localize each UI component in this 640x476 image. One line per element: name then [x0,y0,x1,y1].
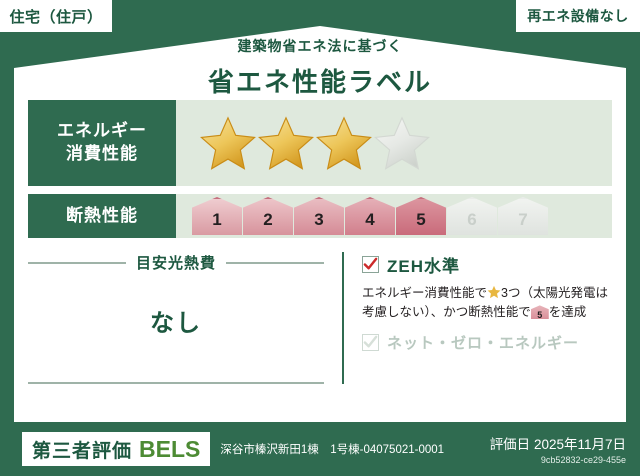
check-icon-disabled [363,335,378,350]
bels-logo-jp: 第三者評価 [32,436,132,463]
star-icon-inline [487,285,501,299]
insulation-performance-label-box: 断熱性能 [28,194,176,238]
inline-house-number: 5 [537,310,542,320]
net-zero-energy-checkbox[interactable] [362,334,379,351]
insulation-house-number: 7 [518,210,527,235]
energy-performance-row: エネルギー 消費性能 [28,100,612,186]
insulation-house-1: 1 [192,197,242,235]
insulation-house-2: 2 [243,197,293,235]
label-footer: 第三者評価 BELS 深谷市榛沢新田1棟 1号棟-04075021-0001 評… [0,422,640,476]
energy-performance-label: 住宅（住戸） 再エネ設備なし 建築物省エネ法に基づく 省エネ性能ラベル エネルギ… [0,0,640,476]
utility-cost-heading-text: 目安光熱費 [126,252,226,273]
net-zero-energy-line: ネット・ゼロ・エネルギー [362,332,612,353]
insulation-house-7: 7 [498,197,548,235]
star-icon-filled [200,115,256,171]
badge-building-type: 住宅（住戸） [0,0,112,32]
insulation-house-scale: 1234567 [192,197,549,235]
insulation-house-6: 6 [447,197,497,235]
check-icon [363,257,378,272]
insulation-house-number: 1 [212,210,221,235]
insulation-house-5: 5 [396,197,446,235]
energy-label-line1: エネルギー [57,120,147,143]
document-hash: 9cb52832-ce29-455e [490,455,626,465]
label-subtitle: 建築物省エネ法に基づく [0,36,640,56]
evaluation-date: 評価日 2025年11月7日 [490,433,626,453]
star-rating [176,100,612,186]
badge-renewable-equipment: 再エネ設備なし [516,0,640,32]
bels-logo-en: BELS [139,436,200,463]
zeh-desc-part3: を達成 [549,305,587,319]
insulation-house-number: 5 [416,210,425,235]
utility-cost-panel: 目安光熱費 なし [28,252,342,384]
lower-panels: 目安光熱費 なし ZEH水準 エネルギー消費性能で3つ（太陽光発電は考慮し [28,252,612,384]
bels-logo: 第三者評価 BELS [22,432,210,466]
star-icon-filled [316,115,372,171]
footer-meta: 評価日 2025年11月7日 9cb52832-ce29-455e [490,433,626,465]
utility-cost-bottom-rule [28,382,324,384]
energy-label-line2: 消費性能 [66,143,138,166]
star-icon-empty [374,115,430,171]
zeh-title: ZEH水準 [387,252,460,277]
insulation-house-4: 4 [345,197,395,235]
insulation-house-number: 3 [314,210,323,235]
insulation-scale-container: 1234567 [176,194,612,238]
property-address: 深谷市榛沢新田1棟 1号棟-04075021-0001 [220,441,444,457]
zeh-check-line: ZEH水準 [362,252,612,277]
insulation-house-number: 6 [467,210,476,235]
utility-cost-value: なし [28,303,324,338]
label-header: 建築物省エネ法に基づく 省エネ性能ラベル [0,36,640,99]
insulation-house-icon-inline: 5 [531,305,549,319]
heading-rule-right [226,262,324,264]
label-title: 省エネ性能ラベル [0,62,640,99]
net-zero-energy-label: ネット・ゼロ・エネルギー [387,332,579,353]
zeh-panel: ZEH水準 エネルギー消費性能で3つ（太陽光発電は考慮しない）、かつ断熱性能で5… [342,252,612,384]
heading-rule-left [28,262,126,264]
insulation-performance-row: 断熱性能 1234567 [28,194,612,238]
energy-performance-label-box: エネルギー 消費性能 [28,100,176,186]
zeh-description: エネルギー消費性能で3つ（太陽光発電は考慮しない）、かつ断熱性能で5を達成 [362,284,612,323]
zeh-desc-part1: エネルギー消費性能で [362,286,487,300]
zeh-checkbox[interactable] [362,256,379,273]
label-body: エネルギー 消費性能 断熱性能 1234567 目安光熱費 なし [28,100,612,384]
insulation-house-number: 4 [365,210,374,235]
utility-cost-heading: 目安光熱費 [28,252,324,273]
insulation-house-3: 3 [294,197,344,235]
insulation-house-number: 2 [263,210,272,235]
star-icon-filled [258,115,314,171]
